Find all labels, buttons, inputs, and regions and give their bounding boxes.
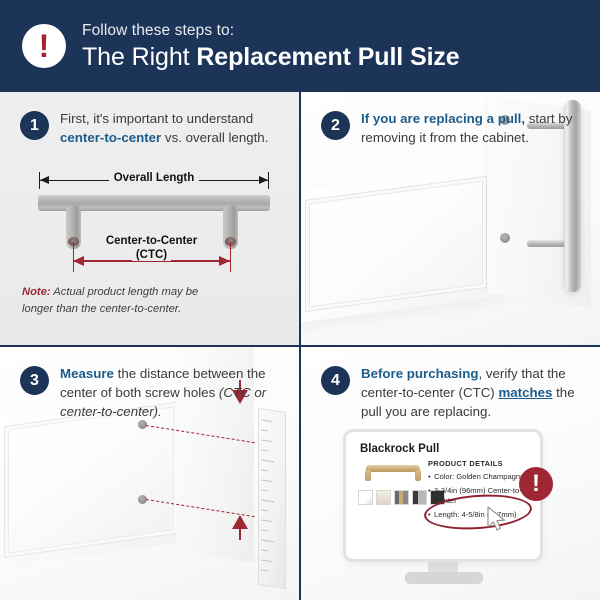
step-4-text: Before purchasing, verify that the cente… <box>361 365 586 422</box>
page-header: ! Follow these steps to: The Right Repla… <box>0 0 600 92</box>
step-3-header: 3 Measure the distance between the cente… <box>20 365 285 422</box>
overall-length-label: Overall Length <box>34 172 274 184</box>
step-2-text: If you are replacing a pull, start by re… <box>361 110 586 148</box>
step-panel-4: 4 Before purchasing, verify that the cen… <box>301 347 600 600</box>
product-details-heading: PRODUCT DETAILS <box>428 459 528 468</box>
product-thumbnail[interactable] <box>358 490 373 505</box>
exclamation-icon: ! <box>22 24 66 68</box>
diagram-note: Note: Actual product length may be longe… <box>22 284 232 317</box>
step-4-link[interactable]: matches <box>498 385 552 400</box>
step-panel-3: 3 Measure the distance between the cente… <box>0 347 299 600</box>
step-3-text: Measure the distance between the center … <box>60 365 285 422</box>
exclamation-glyph: ! <box>39 30 50 62</box>
steps-grid: 1 First, it's important to understand ce… <box>0 92 600 600</box>
monitor-stand-base <box>405 572 483 584</box>
step-panel-2: 2 If you are replacing a pull, start by … <box>301 92 600 345</box>
monitor-screen: Blackrock Pull PRODUCT DETAIL <box>343 429 543 562</box>
measure-arrow-up-icon <box>232 515 248 529</box>
cabinet-door-front <box>301 164 501 324</box>
ruler-icon <box>258 408 286 589</box>
header-kicker: Follow these steps to: <box>82 21 460 40</box>
product-thumbnail[interactable] <box>394 490 409 505</box>
infographic-page: ! Follow these steps to: The Right Repla… <box>0 0 600 600</box>
step-panel-1: 1 First, it's important to understand ce… <box>0 92 299 345</box>
product-pull-leg-left <box>365 470 371 481</box>
product-pull-leg-right <box>415 470 421 481</box>
step-1-line1: First, it's important to understand <box>60 111 253 126</box>
product-thumbnail[interactable] <box>376 490 391 505</box>
screw-hole-bottom <box>500 233 510 243</box>
exclamation-glyph: ! <box>532 472 540 496</box>
step-number-1: 1 <box>20 111 49 140</box>
product-detail-item: Color: Golden Champagne <box>428 472 528 482</box>
product-thumbnail[interactable] <box>412 490 427 505</box>
arrow-up-stem <box>239 528 241 540</box>
ctc-label: Center-to-Center (CTC) <box>64 234 239 262</box>
step-2-highlight: If you are replacing a pull, <box>361 111 525 126</box>
step-4-highlight: Before purchasing <box>361 366 478 381</box>
header-text-block: Follow these steps to: The Right Replace… <box>82 21 460 70</box>
ctc-label-line2: (CTC) <box>132 249 171 261</box>
step-number-4: 4 <box>321 366 350 395</box>
note-prefix: Note: <box>22 286 51 298</box>
page-title-bold: Replacement Pull Size <box>196 43 459 71</box>
step-4-header: 4 Before purchasing, verify that the cen… <box>321 365 586 422</box>
product-title: Blackrock Pull <box>360 443 439 455</box>
step-number-2: 2 <box>321 111 350 140</box>
step-3-highlight: Measure <box>60 366 114 381</box>
mouse-pointer-icon <box>486 506 508 532</box>
product-pull-bar <box>366 465 420 472</box>
step-1-header: 1 First, it's important to understand ce… <box>20 110 285 148</box>
step-1-line2: vs. overall length. <box>161 130 268 145</box>
product-image-pull <box>362 465 424 481</box>
step-2-header: 2 If you are replacing a pull, start by … <box>321 110 586 148</box>
step-1-text: First, it's important to understand cent… <box>60 110 285 148</box>
page-title-thin: The Right <box>82 43 196 71</box>
step-number-3: 3 <box>20 366 49 395</box>
step-1-highlight: center-to-center <box>60 130 161 145</box>
ctc-label-line1: Center-to-Center <box>102 235 201 247</box>
page-title: The Right Replacement Pull Size <box>82 43 460 71</box>
product-page-monitor: Blackrock Pull PRODUCT DETAIL <box>343 429 558 594</box>
exclamation-icon: ! <box>519 467 553 501</box>
cabinet-door-inset <box>305 176 487 312</box>
overall-length-text: Overall Length <box>109 172 200 184</box>
